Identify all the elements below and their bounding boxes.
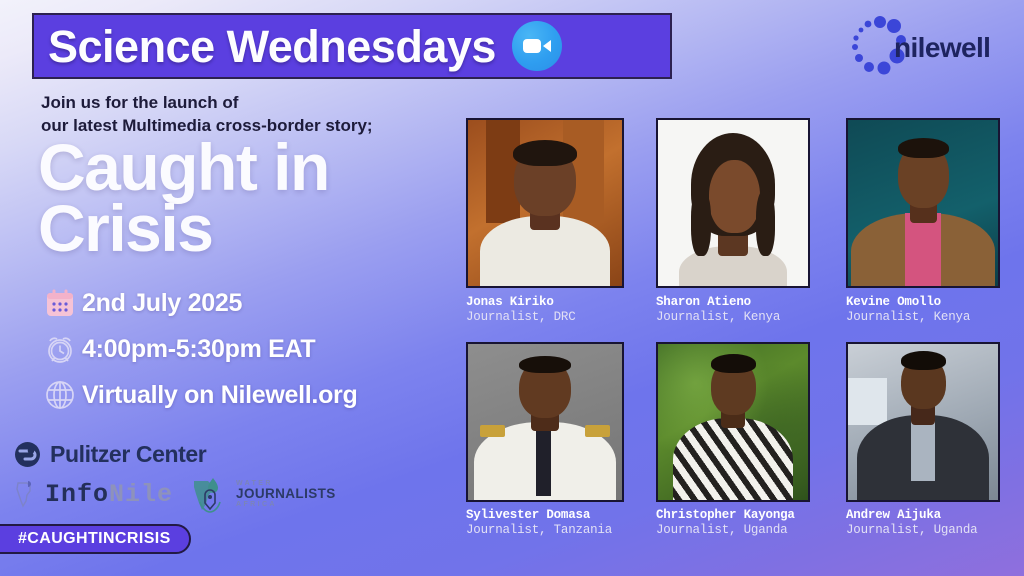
speaker-row-2: Sylivester Domasa Journalist, Tanzania C… bbox=[466, 342, 1014, 539]
event-date-text: 2nd July 2025 bbox=[82, 289, 242, 318]
speaker-row-1: Jonas Kiriko Journalist, DRC Sharon Atie… bbox=[466, 118, 1014, 326]
speaker-name: Jonas Kiriko bbox=[466, 295, 634, 310]
pulitzer-mark-icon bbox=[14, 441, 41, 468]
speaker-card: Kevine Omollo Journalist, Kenya bbox=[846, 118, 1014, 326]
brand-name: nilewell bbox=[894, 32, 990, 64]
hashtag-label: #CAUGHTINCRISIS bbox=[18, 530, 171, 548]
event-time-text: 4:00pm-5:30pm EAT bbox=[82, 335, 315, 364]
speaker-card: Sylivester Domasa Journalist, Tanzania bbox=[466, 342, 634, 539]
zoom-video-camera-icon bbox=[512, 21, 562, 71]
secondary-logos-row: InfoNile WATER JOURNALISTS AFRICA bbox=[14, 474, 354, 514]
speaker-role: Journalist, DRC bbox=[466, 310, 634, 325]
speaker-name: Kevine Omollo bbox=[846, 295, 1014, 310]
speaker-caption: Jonas Kiriko Journalist, DRC bbox=[466, 295, 634, 326]
speaker-name: Christopher Kayonga bbox=[656, 508, 824, 523]
speaker-name: Sharon Atieno bbox=[656, 295, 824, 310]
pulitzer-center-logo: Pulitzer Center bbox=[14, 441, 354, 468]
speaker-card: Jonas Kiriko Journalist, DRC bbox=[466, 118, 634, 326]
speaker-photo bbox=[846, 342, 1000, 502]
nilewell-logo: nilewell bbox=[850, 16, 1002, 78]
event-location-row: Virtually on Nilewell.org bbox=[38, 372, 458, 418]
event-details: 2nd July 2025 4:00pm-5:30pm EAT Virtuall bbox=[38, 280, 458, 418]
page-title: Science Wednesdays bbox=[48, 24, 496, 69]
speaker-caption: Kevine Omollo Journalist, Kenya bbox=[846, 295, 1014, 326]
infonile-info-text: Info bbox=[45, 480, 109, 509]
speaker-photo bbox=[656, 342, 810, 502]
speaker-caption: Sharon Atieno Journalist, Kenya bbox=[656, 295, 824, 326]
speaker-role: Journalist, Kenya bbox=[656, 310, 824, 325]
speaker-role: Journalist, Kenya bbox=[846, 310, 1014, 325]
alarm-clock-icon bbox=[38, 332, 82, 366]
infonile-logo: InfoNile bbox=[14, 479, 173, 509]
calendar-icon bbox=[38, 287, 82, 319]
africa-outline-icon bbox=[14, 479, 38, 509]
speaker-photo bbox=[656, 118, 810, 288]
infonile-label: InfoNile bbox=[45, 480, 173, 509]
partner-logos: Pulitzer Center InfoNile WATER JOURNALIS… bbox=[14, 441, 354, 514]
water-journalists-africa-logo: WATER JOURNALISTS AFRICA bbox=[189, 474, 336, 514]
water-drop-pen-icon bbox=[189, 474, 231, 514]
speaker-name: Andrew Aijuka bbox=[846, 508, 1014, 523]
header-banner: Science Wednesdays bbox=[32, 13, 672, 79]
globe-icon bbox=[38, 379, 82, 411]
pulitzer-center-label: Pulitzer Center bbox=[50, 441, 206, 468]
speaker-grid: Jonas Kiriko Journalist, DRC Sharon Atie… bbox=[466, 118, 1014, 538]
wja-text-block: WATER JOURNALISTS AFRICA bbox=[236, 480, 336, 508]
hashtag-badge: #CAUGHTINCRISIS bbox=[0, 524, 191, 554]
event-date-row: 2nd July 2025 bbox=[38, 280, 458, 326]
headline: Caught in Crisis bbox=[38, 137, 468, 258]
event-time-row: 4:00pm-5:30pm EAT bbox=[38, 326, 458, 372]
infonile-nile-text: Nile bbox=[109, 480, 173, 509]
wja-bottom-label: AFRICA bbox=[236, 501, 336, 508]
speaker-caption: Sylivester Domasa Journalist, Tanzania bbox=[466, 508, 634, 539]
event-location-text: Virtually on Nilewell.org bbox=[82, 381, 357, 410]
speaker-card: Christopher Kayonga Journalist, Uganda bbox=[656, 342, 824, 539]
headline-line-2: Crisis bbox=[38, 198, 468, 259]
speaker-photo bbox=[846, 118, 1000, 288]
speaker-photo bbox=[466, 118, 624, 288]
intro-line-1: Join us for the launch of bbox=[41, 92, 461, 115]
headline-line-1: Caught in bbox=[38, 137, 468, 198]
speaker-card: Andrew Aijuka Journalist, Uganda bbox=[846, 342, 1014, 539]
speaker-photo bbox=[466, 342, 624, 502]
speaker-role: Journalist, Uganda bbox=[846, 523, 1014, 538]
speaker-role: Journalist, Uganda bbox=[656, 523, 824, 538]
speaker-caption: Andrew Aijuka Journalist, Uganda bbox=[846, 508, 1014, 539]
speaker-card: Sharon Atieno Journalist, Kenya bbox=[656, 118, 824, 326]
wja-mid-label: JOURNALISTS bbox=[236, 487, 336, 501]
speaker-name: Sylivester Domasa bbox=[466, 508, 634, 523]
speaker-caption: Christopher Kayonga Journalist, Uganda bbox=[656, 508, 824, 539]
speaker-role: Journalist, Tanzania bbox=[466, 523, 634, 538]
